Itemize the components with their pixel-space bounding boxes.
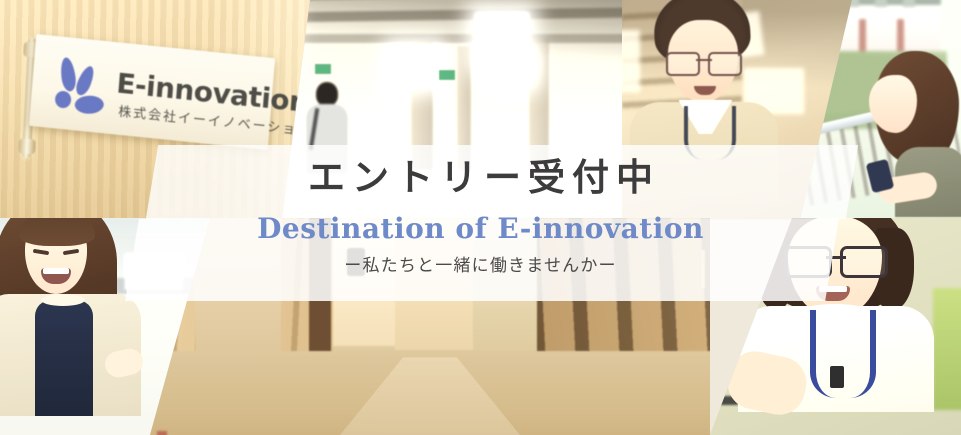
id-badge-icon (830, 366, 844, 388)
banner-headline: エントリー受付中 (301, 157, 660, 198)
banner-text-group: エントリー受付中 Destination of E-innovation ー私た… (0, 145, 961, 305)
banner-subtitle-en: Destination of E-innovation (257, 212, 704, 245)
banner-subtitle-jp: ー私たちと一緒に働きませんかー (344, 251, 617, 276)
recruit-hero-banner: E-innovation 株式会社イーイノベーション (0, 0, 961, 435)
company-logo-icon (50, 56, 110, 119)
eyeglasses-icon (666, 52, 742, 72)
exit-sign-icon (439, 70, 455, 80)
ceiling-light-icon (475, 12, 529, 64)
exit-sign-icon (315, 64, 331, 74)
ceiling-light-icon (393, 46, 437, 86)
ceiling-light-icon (491, 59, 533, 83)
